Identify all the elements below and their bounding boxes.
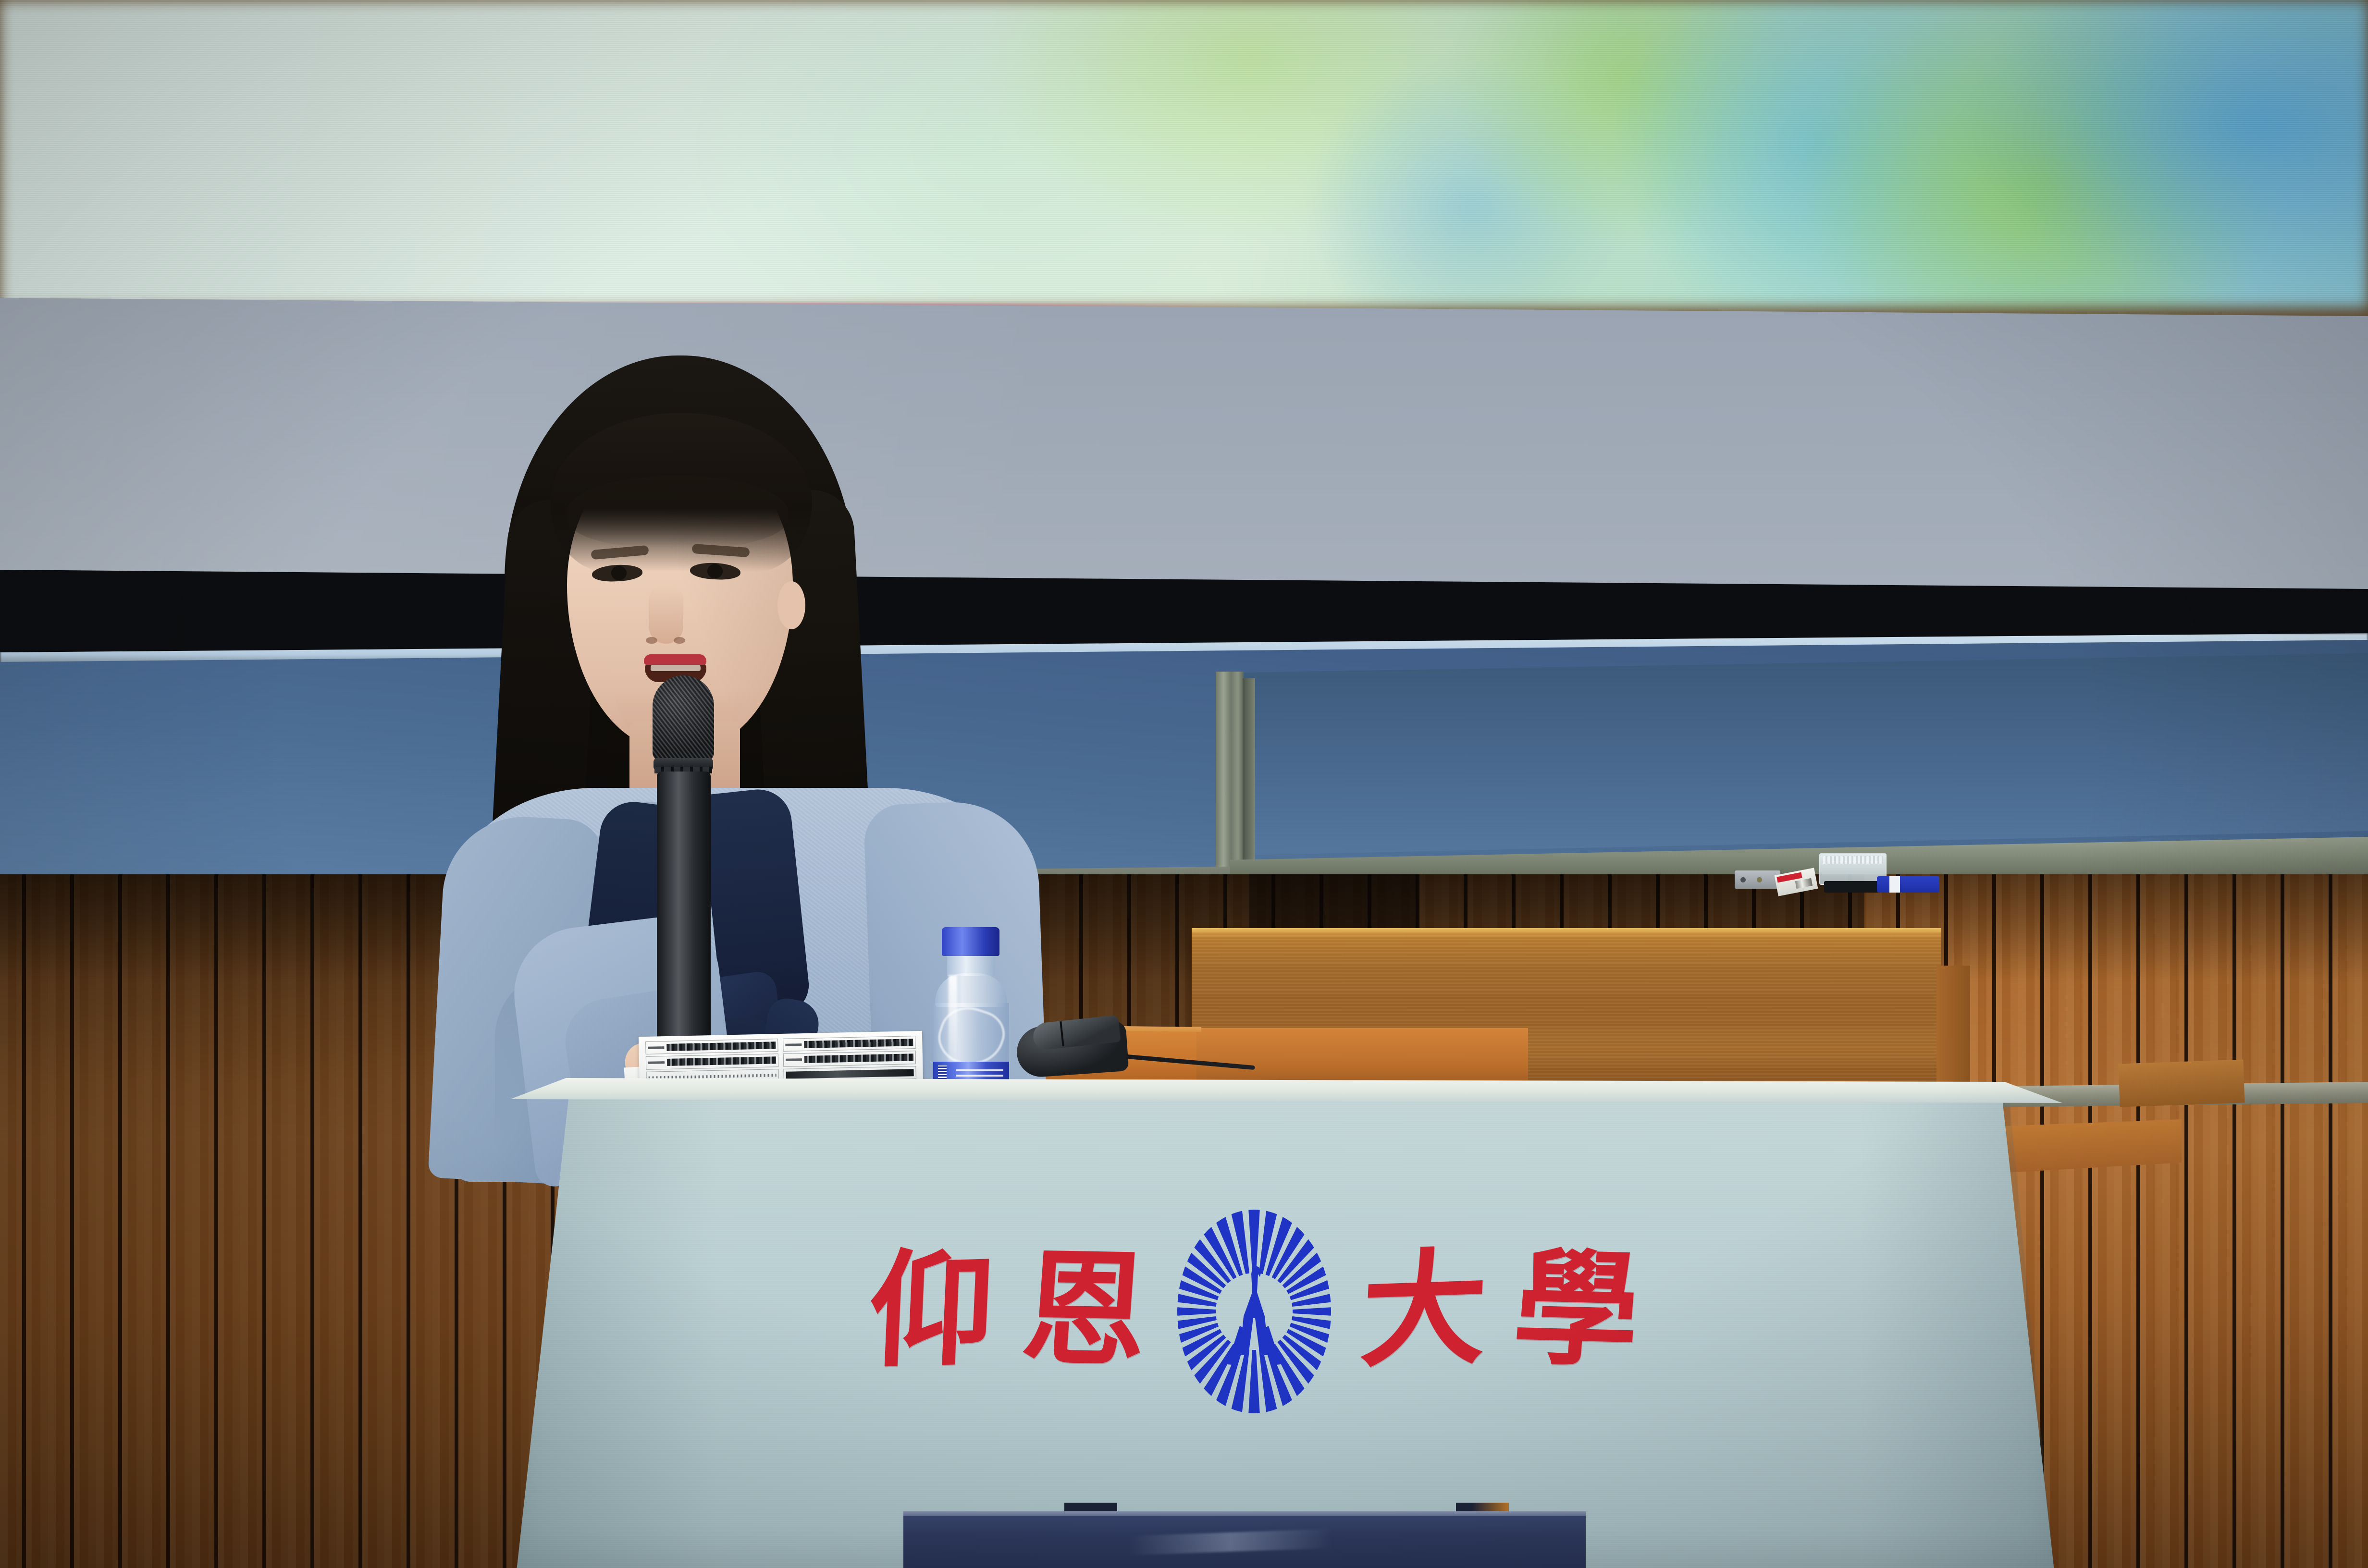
handout-cell [645, 1039, 778, 1054]
bottle-neck [947, 954, 995, 976]
wood-back-panel-side [1936, 966, 1970, 1100]
water-bottle [927, 927, 1016, 1100]
pupil-left [611, 566, 627, 580]
blackboard-panel-right [1244, 653, 2368, 865]
blue-marker [1877, 876, 1939, 893]
handout-cell-thumbnail [666, 1041, 776, 1051]
logo-char-yang: 仰 [866, 1248, 997, 1376]
chalk-packet [1775, 868, 1818, 896]
handout-cell [783, 1051, 916, 1066]
bottle-highlight [949, 975, 957, 1062]
ledge-items-group [1730, 842, 1951, 904]
nose [649, 586, 683, 644]
nostril-left [646, 637, 657, 644]
microphone-grille [653, 675, 714, 762]
metal-bracket [1735, 870, 1780, 889]
lectern-top-rail [510, 1078, 2062, 1103]
logo-char-da: 大 [1358, 1247, 1490, 1376]
handout-cell-label [648, 1046, 664, 1049]
bottle-cap [942, 927, 999, 956]
handout-cell-label [785, 1043, 802, 1046]
wood-desk-rail [2119, 1059, 2245, 1107]
logo-char-xue: 學 [1509, 1248, 1644, 1376]
handout-table [645, 1036, 916, 1085]
handout-cell-thumbnail [804, 1039, 913, 1048]
projection-scanlines [0, 0, 2368, 307]
hair-bangs-fringe [567, 476, 788, 548]
logo-char-en: 恩 [1018, 1248, 1151, 1375]
upper-lip [644, 654, 706, 665]
microphone-body [657, 772, 711, 1079]
sunburst-emblem [1175, 1208, 1333, 1415]
handout-cell-thumbnail [786, 1069, 913, 1079]
handout-cell-thumbnail [804, 1054, 913, 1064]
handout-cell-label [786, 1059, 802, 1062]
handout-cell-thumbnail [667, 1057, 776, 1066]
bottle-shoulder [935, 973, 1007, 1007]
handout-cell-label [648, 1062, 665, 1065]
computer-mouse [1017, 1014, 1137, 1076]
handout-cell [646, 1053, 779, 1069]
board-eraser [1824, 881, 1882, 893]
pupil-right [707, 564, 723, 578]
nostril-right [674, 637, 685, 644]
chalk-packet-barcode [1795, 878, 1813, 889]
ear [777, 581, 805, 629]
photo-scene: 仰 恩 [0, 0, 2368, 1568]
chalk-box [1819, 853, 1887, 885]
handout-cell [783, 1036, 916, 1052]
university-logo: 仰 恩 [807, 1187, 1701, 1436]
